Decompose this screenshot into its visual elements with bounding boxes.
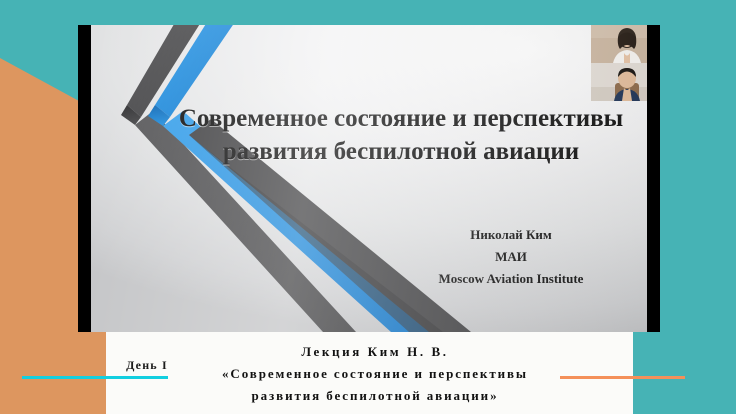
orange-divider-rule <box>560 376 685 379</box>
person-silhouette-icon <box>591 63 647 101</box>
slide-title-line-1: Современное состояние и перспективы <box>179 105 623 132</box>
slide-title: Современное состояние и перспективы разв… <box>161 102 641 168</box>
caption-text: Лекция Ким Н. В. «Современное состояние … <box>175 341 575 407</box>
caption-line-3: развития беспилотной авиации» <box>175 385 575 407</box>
screen-capture-frame: Современное состояние и перспективы разв… <box>0 0 736 414</box>
person-silhouette-icon <box>591 25 647 63</box>
author-organization-english: Moscow Aviation Institute <box>391 268 631 290</box>
day-label: День I <box>112 358 182 373</box>
participant-video-stack <box>591 25 647 101</box>
author-organization: МАИ <box>391 246 631 268</box>
shared-screen-letterbox: Современное состояние и перспективы разв… <box>78 25 660 332</box>
caption-line-1: Лекция Ким Н. В. <box>175 341 575 363</box>
slide-title-line-2: развития беспилотной авиации <box>161 135 641 168</box>
participant-video-bottom[interactable] <box>591 63 647 101</box>
author-name: Николай Ким <box>391 224 631 246</box>
slide-author-block: Николай Ким МАИ Moscow Aviation Institut… <box>391 224 631 290</box>
presentation-slide: Современное состояние и перспективы разв… <box>91 25 647 332</box>
caption-line-2: «Современное состояние и перспективы <box>175 363 575 385</box>
cyan-divider-rule <box>22 376 168 379</box>
participant-video-top[interactable] <box>591 25 647 63</box>
